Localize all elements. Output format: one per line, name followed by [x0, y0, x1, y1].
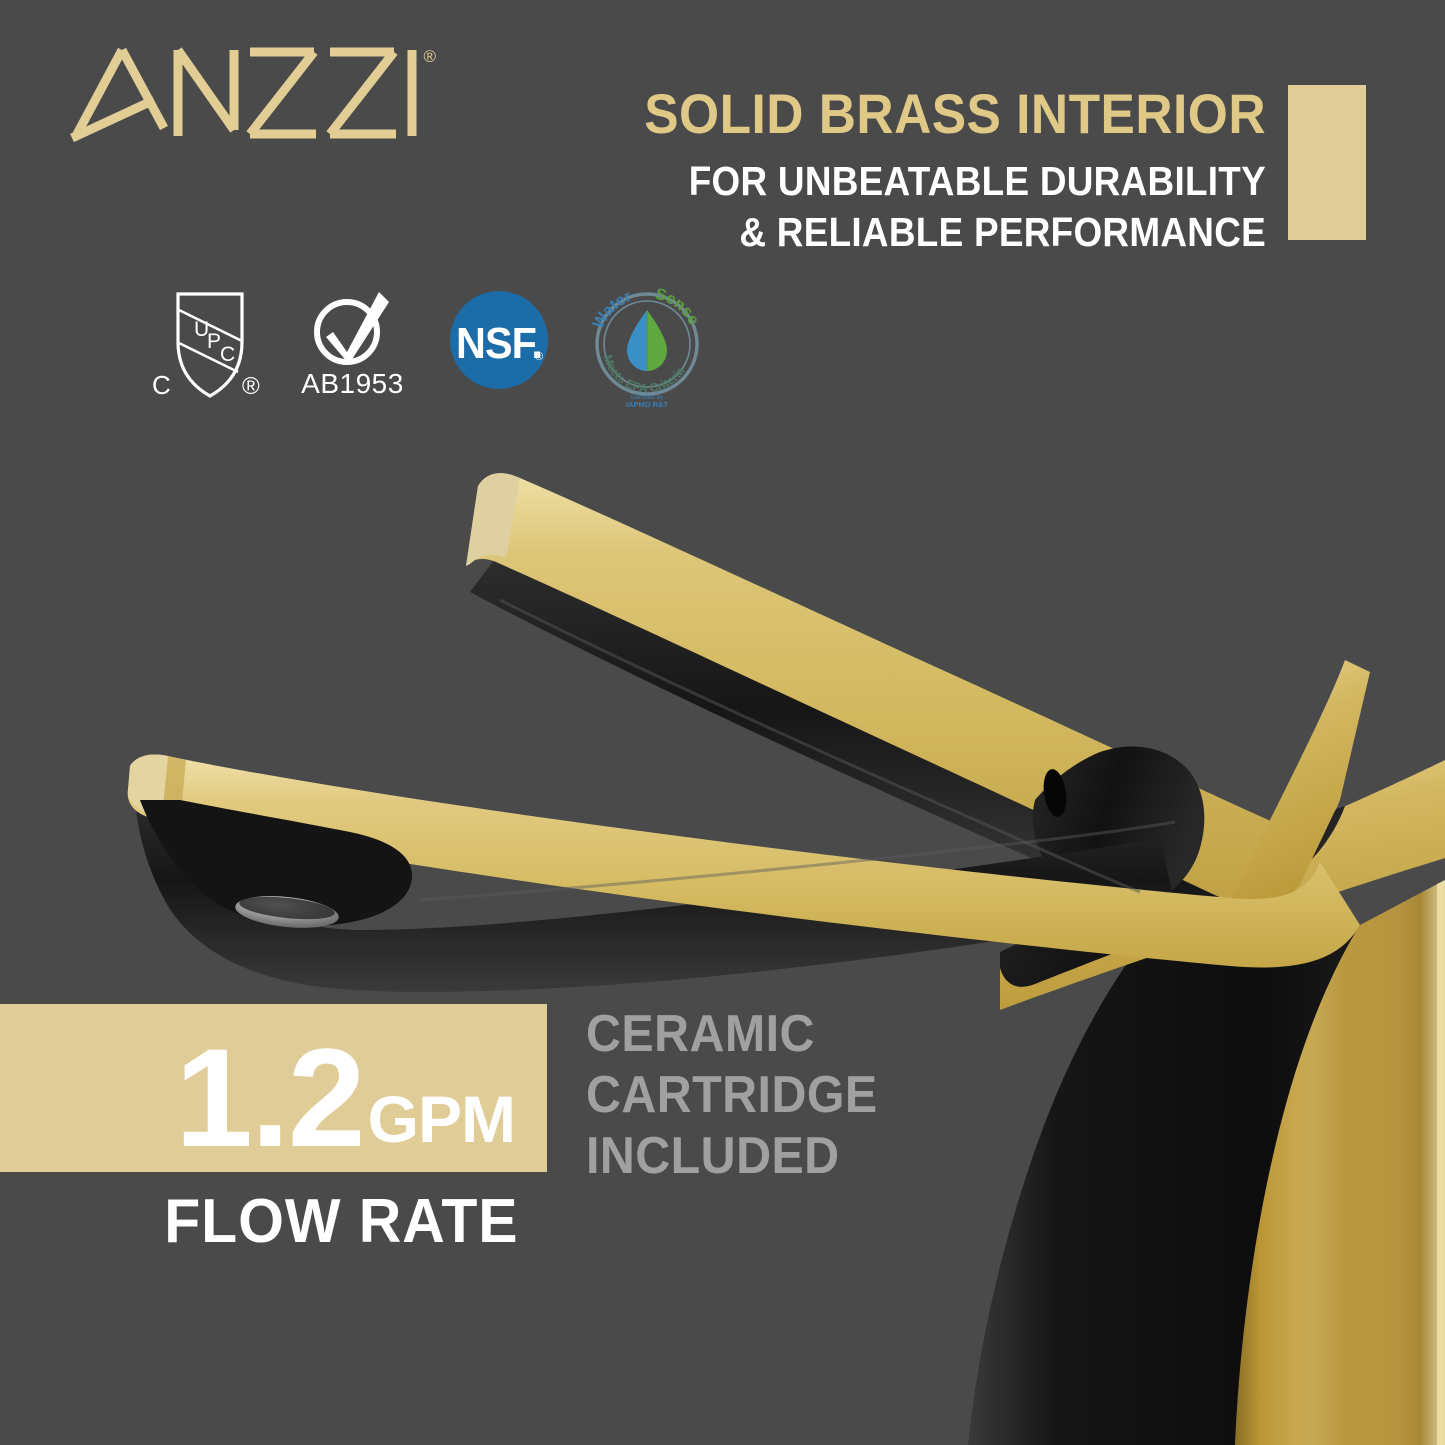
ceramic-cartridge-callout: CERAMIC CARTRIDGE INCLUDED [586, 1004, 878, 1186]
cartridge-line-2: CARTRIDGE [586, 1065, 878, 1126]
flow-rate-value-group: 1.2 GPM [175, 1028, 515, 1168]
flow-rate-label: FLOW RATE [27, 1186, 547, 1257]
cartridge-line-1: CERAMIC [586, 1004, 878, 1065]
product-feature-graphic: ® SOLID BRASS INTERIOR FOR UNBEATABLE DU… [0, 0, 1445, 1445]
cartridge-line-3: INCLUDED [586, 1126, 878, 1187]
flow-rate-unit: GPM [368, 1086, 515, 1152]
flow-rate-badge: 1.2 GPM [0, 1004, 547, 1172]
flow-rate-value: 1.2 [175, 1028, 364, 1168]
